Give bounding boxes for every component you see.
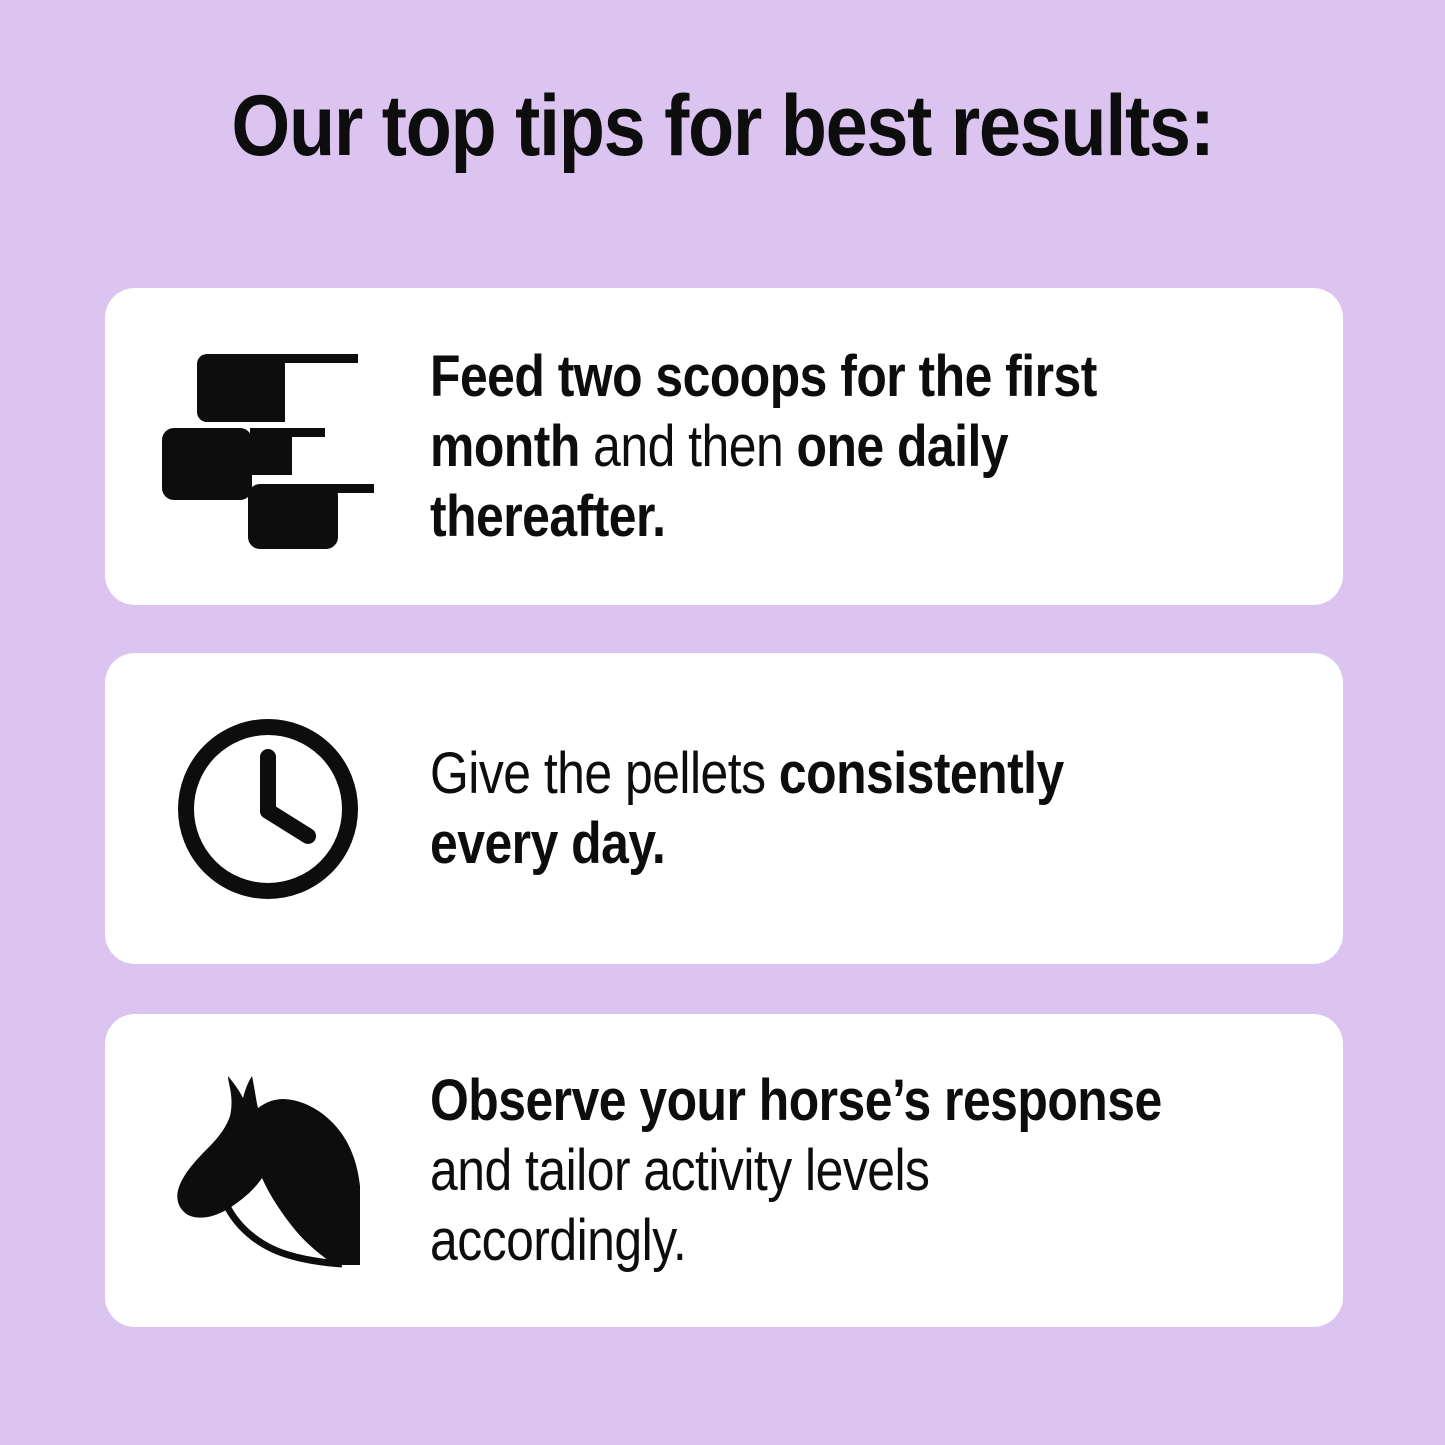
page-title: Our top tips for best results: xyxy=(87,78,1359,174)
tip-3-segment-1: Observe your horse’s response xyxy=(430,1068,1162,1133)
horse-head-icon xyxy=(105,1068,430,1273)
clock-icon xyxy=(105,714,430,904)
tip-3-segment-2: and tailor activity levels accordingly. xyxy=(430,1138,929,1273)
tip-1-segment-2: and then xyxy=(593,414,796,479)
tip-text-consistency: Give the pellets consistently every day. xyxy=(430,739,1215,879)
tip-text-feeding: Feed two scoops for the first month and … xyxy=(430,342,1215,552)
tips-card-list: Feed two scoops for the first month and … xyxy=(105,288,1343,1327)
tips-infographic: Our top tips for best results: xyxy=(0,0,1445,1445)
tip-card-consistency: Give the pellets consistently every day. xyxy=(105,653,1343,964)
tip-text-observation: Observe your horse’s response and tailor… xyxy=(430,1066,1215,1276)
tip-2-segment-1: Give the pellets xyxy=(430,741,779,806)
two-scoops-icon xyxy=(105,344,430,549)
tip-card-observation: Observe your horse’s response and tailor… xyxy=(105,1014,1343,1327)
tip-card-feeding: Feed two scoops for the first month and … xyxy=(105,288,1343,605)
